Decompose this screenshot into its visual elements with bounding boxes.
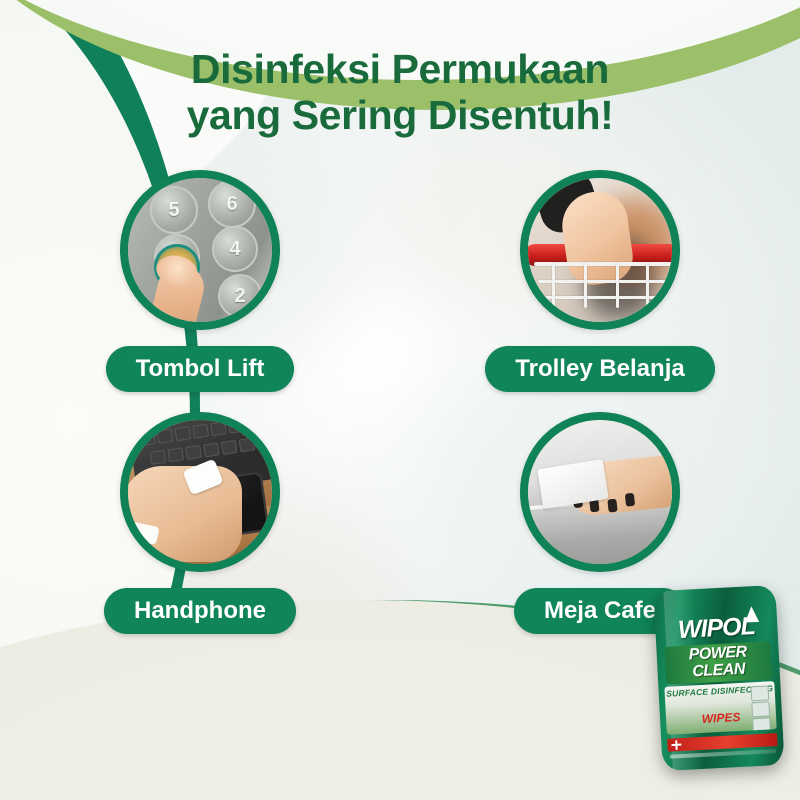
health-cross-icon [671,740,682,751]
touchpoint-label: Trolley Belanja [485,346,714,392]
headline-line-2: yang Sering Disentuh! [0,92,800,138]
touchpoint-item: 5 6 3 4 2 Tombol Lift [35,170,365,392]
elevator-photo: 5 6 3 4 2 [128,178,272,322]
elevator-button-4: 4 [212,226,258,272]
trolley-photo [528,178,672,322]
meja-cafe-photo [528,420,672,564]
elevator-button-2: 2 [218,274,262,318]
pack-thumbnail-image [750,685,769,701]
cafe-table-icon [520,412,680,572]
pine-tree-icon [744,606,759,623]
product-pack: WIPOL POWER CLEAN SURFACE DISINFECTING W… [653,585,784,771]
product-descriptor-panel: SURFACE DISINFECTING WIPES [664,681,776,735]
pack-body: WIPOL POWER CLEAN SURFACE DISINFECTING W… [653,585,784,771]
page-title: Disinfeksi Permukaan yang Sering Disentu… [0,46,800,139]
touchpoint-grid: 5 6 3 4 2 Tombol Lift [0,170,800,634]
touchpoint-label: Handphone [104,588,296,634]
product-variant-panel: POWER CLEAN [664,641,772,684]
pack-thumbnail-image [751,701,770,717]
cart-basket-frame [528,256,672,318]
elevator-buttons-icon: 5 6 3 4 2 [120,170,280,330]
poster-canvas: Disinfeksi Permukaan yang Sering Disentu… [0,0,800,800]
elevator-button-6: 6 [208,180,256,228]
hand-holding-phone [128,466,242,562]
touchpoint-item: Trolley Belanja [435,170,765,392]
headline-line-1: Disinfeksi Permukaan [191,46,609,92]
mobile-phone-icon [120,412,280,572]
touchpoint-label: Tombol Lift [106,346,295,392]
pack-thumbnail-image [752,717,771,733]
elevator-button-5: 5 [150,186,198,234]
touchpoint-item: Handphone [35,412,365,634]
shopping-trolley-icon [520,170,680,330]
handphone-photo [128,420,272,564]
